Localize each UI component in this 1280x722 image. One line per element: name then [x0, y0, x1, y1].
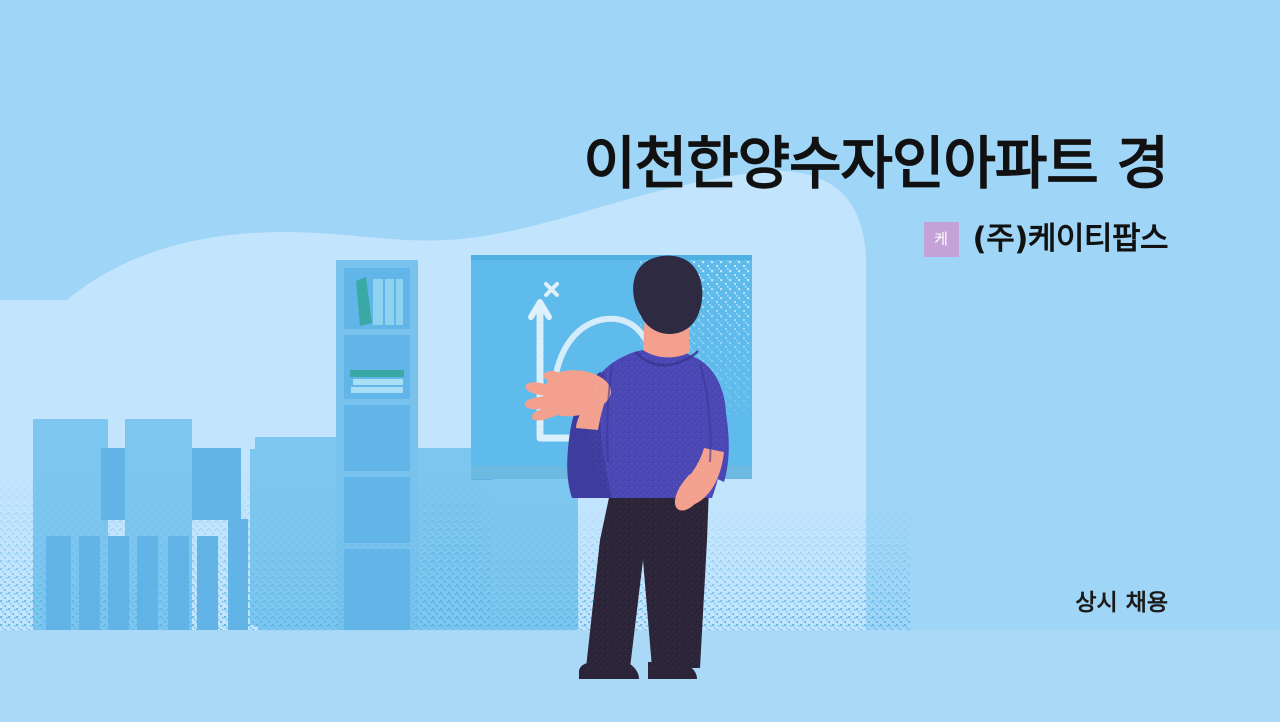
book-1 [373, 279, 383, 325]
job-posting-banner: 이천한양수자인아파트 경 케 (주)케이티팝스 상시 채용 [0, 0, 1280, 722]
book-2 [385, 279, 394, 325]
shirt-noise [589, 346, 726, 498]
stacked-book-light-1 [353, 379, 403, 385]
banner-illustration [0, 0, 1280, 722]
stacked-book-teal [350, 370, 404, 377]
whiteboard-frame-top [471, 255, 752, 260]
bookshelf-stacked-books [350, 370, 404, 393]
book-3 [396, 279, 403, 325]
bookshelf-shelf-3 [344, 405, 410, 471]
stacked-book-light-2 [351, 387, 403, 393]
